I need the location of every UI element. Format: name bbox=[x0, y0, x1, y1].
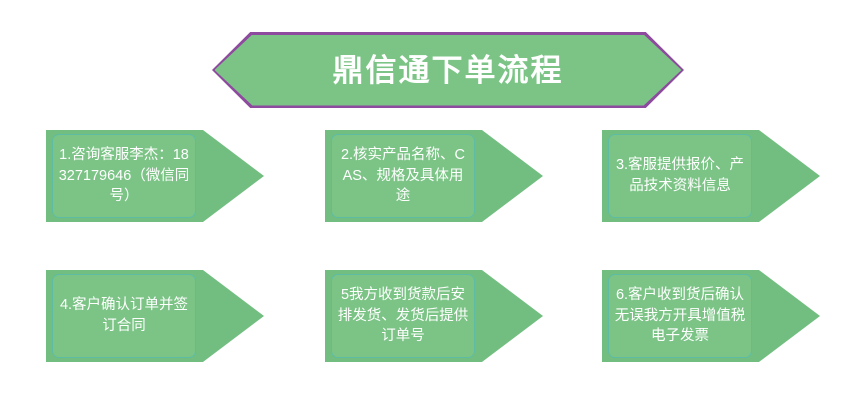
flowchart-canvas: 鼎信通下单流程 1.咨询客服李杰：18327179646（微信同号） 2.核实产… bbox=[0, 0, 865, 417]
step-3-box: 3.客服提供报价、产品技术资料信息 bbox=[608, 134, 752, 218]
step-3-label: 3.客服提供报价、产品技术资料信息 bbox=[609, 155, 751, 196]
page-title: 鼎信通下单流程 bbox=[212, 32, 684, 108]
process-step-2[interactable]: 2.核实产品名称、CAS、规格及具体用途 bbox=[325, 130, 543, 222]
step-1-label: 1.咨询客服李杰：18327179646（微信同号） bbox=[53, 145, 195, 207]
step-6-label: 6.客户收到货后确认无误我方开具增值税电子发票 bbox=[609, 285, 751, 347]
process-step-5[interactable]: 5我方收到货款后安排发货、发货后提供订单号 bbox=[325, 270, 543, 362]
process-step-1[interactable]: 1.咨询客服李杰：18327179646（微信同号） bbox=[46, 130, 264, 222]
step-5-label: 5我方收到货款后安排发货、发货后提供订单号 bbox=[332, 285, 474, 347]
step-1-box: 1.咨询客服李杰：18327179646（微信同号） bbox=[52, 134, 196, 218]
process-step-6[interactable]: 6.客户收到货后确认无误我方开具增值税电子发票 bbox=[602, 270, 820, 362]
step-2-label: 2.核实产品名称、CAS、规格及具体用途 bbox=[332, 145, 474, 207]
step-6-box: 6.客户收到货后确认无误我方开具增值税电子发票 bbox=[608, 274, 752, 358]
step-5-box: 5我方收到货款后安排发货、发货后提供订单号 bbox=[331, 274, 475, 358]
step-4-box: 4.客户确认订单并签订合同 bbox=[52, 274, 196, 358]
process-step-4[interactable]: 4.客户确认订单并签订合同 bbox=[46, 270, 264, 362]
flowchart-title-banner: 鼎信通下单流程 bbox=[212, 32, 684, 108]
process-step-3[interactable]: 3.客服提供报价、产品技术资料信息 bbox=[602, 130, 820, 222]
step-4-label: 4.客户确认订单并签订合同 bbox=[53, 295, 195, 336]
step-2-box: 2.核实产品名称、CAS、规格及具体用途 bbox=[331, 134, 475, 218]
